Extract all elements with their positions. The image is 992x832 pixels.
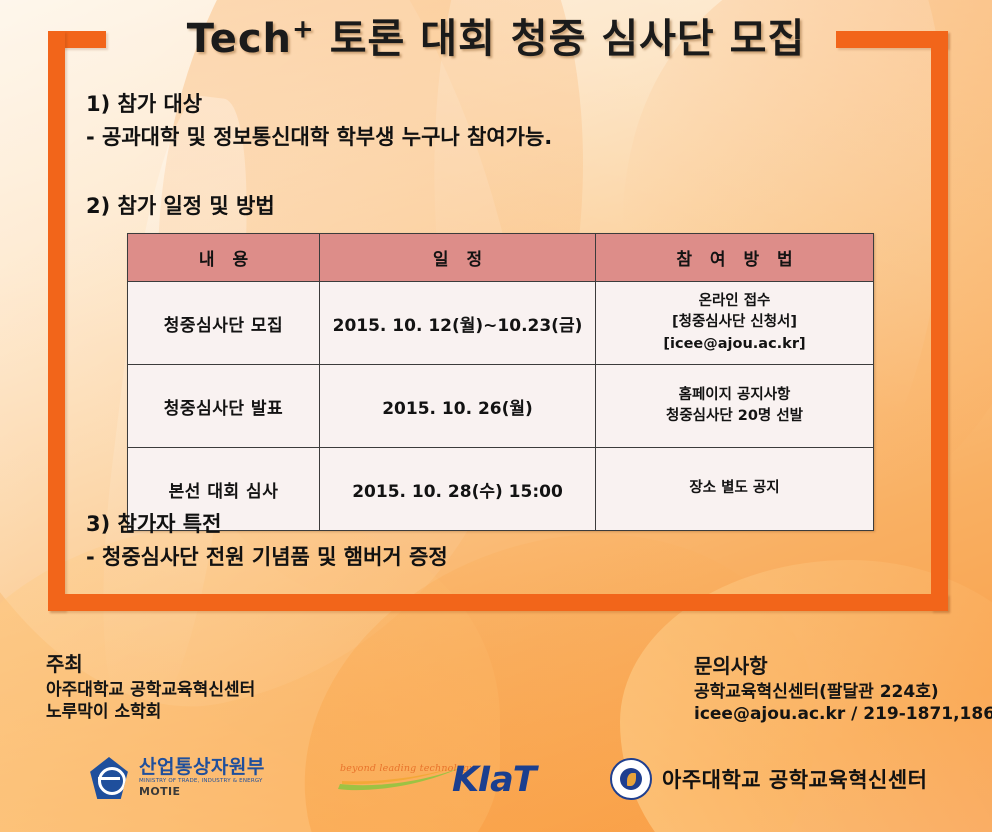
section-1-line-1: - 공과대학 및 정보통신대학 학부생 누구나 참여가능.: [86, 121, 552, 154]
cell-content: 청중심사단 발표: [128, 365, 320, 448]
kiat-logo: beyond leading technology KIaT: [336, 758, 546, 806]
footer-contact-block: 문의사항 공학교육혁신센터(팔달관 224호) icee@ajou.ac.kr …: [694, 650, 992, 726]
cell-date: 2015. 10. 26(월): [320, 365, 596, 448]
cell-content: 청중심사단 모집: [128, 282, 320, 365]
frame-left-bar: [48, 31, 65, 611]
host-line-1: 아주대학교 공학교육혁신센터: [46, 679, 255, 701]
schedule-table: 내 용 일 정 참 여 방 법 청중심사단 모집 2015. 10. 12(월)…: [127, 233, 874, 531]
host-label: 주최: [46, 648, 255, 677]
footer-host-block: 주최 아주대학교 공학교육혁신센터 노루막이 소학회: [46, 648, 255, 724]
cell-method: 홈페이지 공지사항 청중심사단 20명 선발: [596, 365, 874, 448]
poster-title: Tech+ 토론 대회 청중 심사단 모집: [0, 6, 992, 64]
contact-email-phone: icee@ajou.ac.kr / 219-1871,1861: [694, 703, 992, 725]
column-header-date: 일 정: [320, 234, 596, 282]
kiat-wordmark: KIaT: [452, 760, 536, 800]
motie-logo: 산업통상자원부 MINISTRY OF TRADE, INDUSTRY & EN…: [88, 757, 265, 799]
method-line: 청중심사단 20명 선발: [602, 406, 867, 427]
poster-canvas: Tech+ 토론 대회 청중 심사단 모집 1) 참가 대상 - 공과대학 및 …: [0, 0, 992, 832]
motie-korean-name: 산업통상자원부: [139, 758, 265, 778]
title-main-text: Tech: [187, 16, 292, 62]
host-line-2: 노루막이 소학회: [46, 701, 255, 723]
table-row: 청중심사단 발표 2015. 10. 26(월) 홈페이지 공지사항 청중심사단…: [128, 365, 874, 448]
motie-emblem-icon: [88, 757, 130, 799]
cell-method: 온라인 접수 [청중심사단 신청서] [icee@ajou.ac.kr]: [596, 282, 874, 365]
motie-wordmark: 산업통상자원부 MINISTRY OF TRADE, INDUSTRY & EN…: [139, 758, 265, 797]
title-rest-text: 토론 대회 청중 심사단 모집: [315, 16, 805, 62]
frame-bottom-bar: [48, 594, 948, 611]
method-line: 온라인 접수: [602, 291, 867, 312]
method-line: [청중심사단 신청서]: [602, 312, 867, 333]
cell-method: 장소 별도 공지: [596, 448, 874, 531]
ajou-name: 아주대학교 공학교육혁신센터: [662, 764, 927, 794]
title-superscript: +: [292, 15, 315, 45]
motie-abbreviation: MOTIE: [139, 786, 265, 798]
sponsor-logo-strip: 산업통상자원부 MINISTRY OF TRADE, INDUSTRY & EN…: [0, 752, 992, 824]
section-3-heading: 3) 참가자 특전: [86, 508, 448, 541]
section-schedule: 2) 참가 일정 및 방법: [86, 190, 275, 223]
section-3-line-1: - 청중심사단 전원 기념품 및 햄버거 증정: [86, 541, 448, 574]
cell-date: 2015. 10. 12(월)~10.23(금): [320, 282, 596, 365]
contact-label: 문의사항: [694, 650, 992, 679]
method-line: 장소 별도 공지: [602, 478, 867, 499]
ajou-logo: 아주대학교 공학교육혁신센터: [610, 758, 927, 800]
table-row: 청중심사단 모집 2015. 10. 12(월)~10.23(금) 온라인 접수…: [128, 282, 874, 365]
column-header-content: 내 용: [128, 234, 320, 282]
method-line: [icee@ajou.ac.kr]: [602, 334, 867, 355]
method-line: 홈페이지 공지사항: [602, 385, 867, 406]
column-header-method: 참 여 방 법: [596, 234, 874, 282]
table-header-row: 내 용 일 정 참 여 방 법: [128, 234, 874, 282]
section-2-heading: 2) 참가 일정 및 방법: [86, 190, 275, 223]
contact-office: 공학교육혁신센터(팔달관 224호): [694, 681, 992, 703]
section-benefits: 3) 참가자 특전 - 청중심사단 전원 기념품 및 햄버거 증정: [86, 508, 448, 573]
section-participants: 1) 참가 대상 - 공과대학 및 정보통신대학 학부생 누구나 참여가능.: [86, 88, 552, 153]
frame-right-bar: [931, 31, 948, 611]
section-1-heading: 1) 참가 대상: [86, 88, 552, 121]
ajou-seal-icon: [610, 758, 652, 800]
